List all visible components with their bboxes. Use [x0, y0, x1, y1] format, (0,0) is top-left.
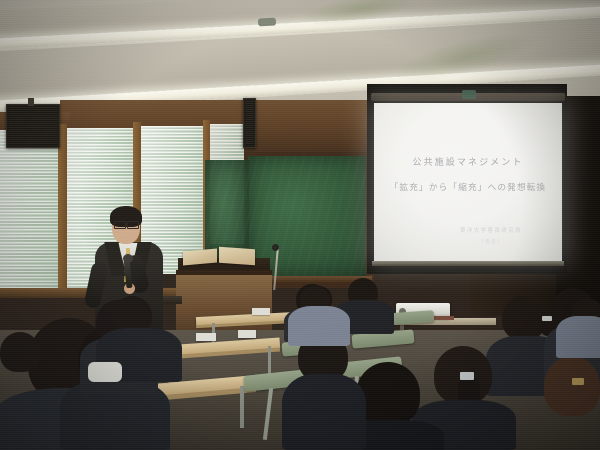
screen-mount-bracket	[462, 90, 476, 99]
hair-clip	[542, 316, 552, 321]
audience-head-left-small	[0, 332, 40, 372]
presentation-slide: 公共施設マネジメント 「拡充」から「縮充」への発想転換 東洋大学客員研究員 （氏…	[374, 103, 562, 261]
presenter-glasses-right	[127, 221, 139, 229]
ceiling-sensor	[258, 18, 276, 27]
hair-tie	[460, 372, 474, 380]
pointer-tip	[272, 244, 279, 251]
slide-presenter-sub: （氏名）	[479, 238, 503, 245]
projection-screen: 公共施設マネジメント 「拡充」から「縮充」への発想転換 東洋大学客員研究員 （氏…	[374, 103, 562, 261]
paper-nameplate	[252, 308, 270, 315]
audience-white-shirt-sleeve	[88, 362, 122, 382]
window-mullion-1	[58, 124, 67, 296]
microphone-head	[123, 254, 133, 263]
audience-torso-center-2	[282, 374, 366, 450]
window-left	[0, 130, 58, 290]
wall-speaker-left-bracket	[28, 98, 34, 106]
audience-torso-blue-shirt	[556, 316, 600, 358]
lecture-room-photo: 公共施設マネジメント 「拡充」から「縮充」への発想転換 東洋大学客員研究員 （氏…	[0, 0, 600, 450]
paper-nameplate	[238, 330, 256, 338]
podium-lip	[176, 270, 272, 275]
slide-presenter-line: 東洋大学客員研究員	[460, 226, 522, 234]
blackboard-left-section	[205, 160, 249, 260]
desk-leg	[240, 386, 244, 428]
podium-paper-left	[183, 249, 217, 266]
wall-speaker-center	[243, 98, 256, 148]
audience-torso-left-blue	[288, 306, 350, 346]
slide-subtitle: 「拡充」から「縮充」への発想転換	[390, 181, 547, 193]
slide-title: 公共施設マネジメント	[412, 155, 523, 168]
screen-bottom-bar	[372, 261, 564, 266]
wall-speaker-left	[6, 104, 60, 148]
hair-clip-gold	[572, 378, 584, 385]
audience-head-right-brown	[544, 356, 600, 416]
presenter-glasses	[114, 221, 126, 229]
podium-paper-right	[219, 247, 255, 266]
paper-nameplate	[196, 333, 216, 341]
